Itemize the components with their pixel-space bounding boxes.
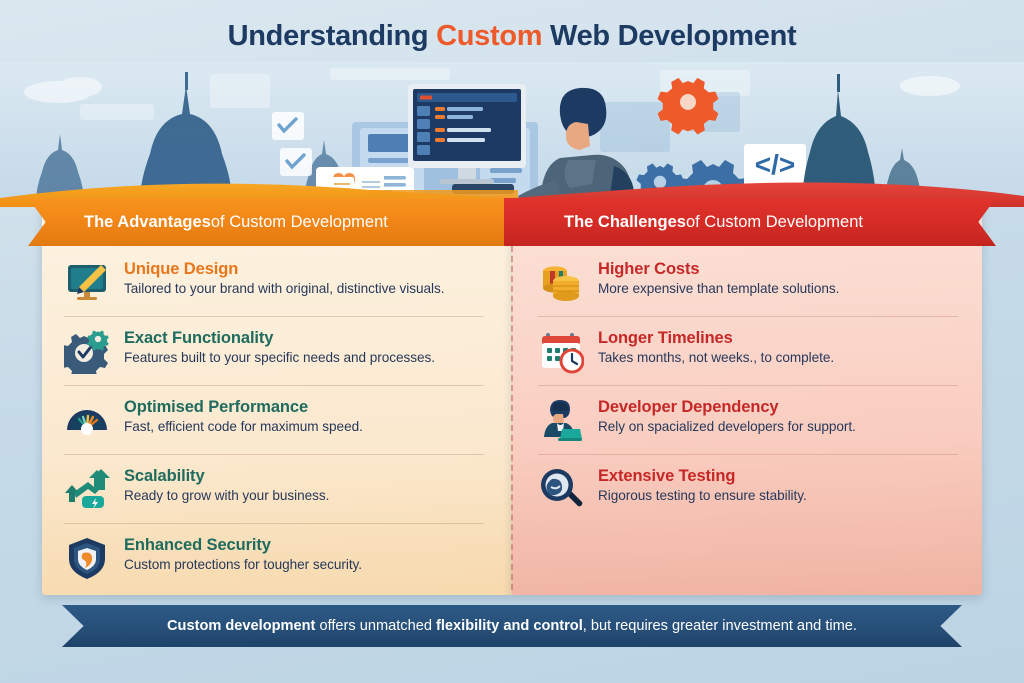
list-item-desc: Custom protections for tougher security. xyxy=(124,557,362,574)
shield-lock-icon xyxy=(64,535,110,581)
list-item-desc: Ready to grow with your business. xyxy=(124,488,329,505)
list-item-desc: Takes months, not weeks., to complete. xyxy=(598,350,834,367)
list-item: Unique Design Tailored to your brand wit… xyxy=(64,248,484,316)
challenges-ribbon-bold: The Challenges xyxy=(564,213,686,232)
list-item-desc: Fast, efficient code for maximum speed. xyxy=(124,419,363,436)
list-item-text: Unique Design Tailored to your brand wit… xyxy=(124,258,444,298)
list-item: Optimised Performance Fast, efficient co… xyxy=(64,385,484,454)
footer-plain-2: , but requires greater investment and ti… xyxy=(583,618,857,634)
list-item-text: Enhanced Security Custom protections for… xyxy=(124,534,362,574)
growth-arrow-icon xyxy=(64,466,110,512)
footer-text: Custom development offers unmatched flex… xyxy=(167,618,857,634)
list-item-heading: Developer Dependency xyxy=(598,398,856,416)
list-item: Developer Dependency Rely on spacialized… xyxy=(538,385,958,454)
list-item-heading: Optimised Performance xyxy=(124,398,363,416)
gear-check-icon xyxy=(64,328,110,374)
coin-stack-icon xyxy=(538,259,584,305)
list-item-desc: Rigorous testing to ensure stability. xyxy=(598,488,807,505)
list-item-heading: Longer Timelines xyxy=(598,329,834,347)
list-item-heading: Higher Costs xyxy=(598,260,839,278)
page-title-accent: Custom xyxy=(436,20,542,52)
challenges-list: Higher Costs More expensive than templat… xyxy=(538,248,958,523)
advantages-ribbon: The Advantages of Custom Development xyxy=(28,198,520,246)
list-item: Enhanced Security Custom protections for… xyxy=(64,523,484,592)
calendar-clock-icon xyxy=(538,328,584,374)
list-item-text: Exact Functionality Features built to yo… xyxy=(124,327,435,367)
footer-bold-2: flexibility and control xyxy=(436,618,583,634)
footer-plain-1: offers unmatched xyxy=(315,618,436,634)
footer-bold-1: Custom development xyxy=(167,618,315,634)
list-item: Higher Costs More expensive than templat… xyxy=(538,248,958,316)
list-item: Extensive Testing Rigorous testing to en… xyxy=(538,454,958,523)
list-item-text: Higher Costs More expensive than templat… xyxy=(598,258,839,298)
list-item: Longer Timelines Takes months, not weeks… xyxy=(538,316,958,385)
list-item-desc: Features built to your specific needs an… xyxy=(124,350,435,367)
page-title-part1: Understanding xyxy=(228,20,436,52)
list-item-heading: Exact Functionality xyxy=(124,329,435,347)
advantages-list: Unique Design Tailored to your brand wit… xyxy=(64,248,484,592)
list-item-heading: Extensive Testing xyxy=(598,467,807,485)
list-item-text: Scalability Ready to grow with your busi… xyxy=(124,465,329,505)
list-item-heading: Enhanced Security xyxy=(124,536,362,554)
challenges-ribbon: The Challenges of Custom Development xyxy=(504,198,996,246)
magnifying-glass-bug-icon xyxy=(538,466,584,512)
panel-divider xyxy=(511,246,513,590)
monitor-pencil-icon xyxy=(64,259,110,305)
list-item: Exact Functionality Features built to yo… xyxy=(64,316,484,385)
list-item: Scalability Ready to grow with your busi… xyxy=(64,454,484,523)
list-item-text: Developer Dependency Rely on spacialized… xyxy=(598,396,856,436)
page-title-part2: Web Development xyxy=(542,20,796,52)
list-item-desc: Rely on spacialized developers for suppo… xyxy=(598,419,856,436)
list-item-text: Optimised Performance Fast, efficient co… xyxy=(124,396,363,436)
advantages-ribbon-light: of Custom Development xyxy=(211,213,388,232)
list-item-text: Extensive Testing Rigorous testing to en… xyxy=(598,465,807,505)
list-item-text: Longer Timelines Takes months, not weeks… xyxy=(598,327,834,367)
developer-laptop-icon xyxy=(538,397,584,443)
hero-artwork: </> xyxy=(0,62,1024,207)
list-item-heading: Unique Design xyxy=(124,260,444,278)
challenges-ribbon-light: of Custom Development xyxy=(686,213,863,232)
advantages-ribbon-bold: The Advantages xyxy=(84,213,211,232)
list-item-desc: More expensive than template solutions. xyxy=(598,281,839,298)
list-item-desc: Tailored to your brand with original, di… xyxy=(124,281,444,298)
speedometer-gauge-icon xyxy=(64,397,110,443)
list-item-heading: Scalability xyxy=(124,467,329,485)
hero-illustration: </> xyxy=(0,62,1024,207)
code-tag-label: </> xyxy=(755,149,795,180)
page-title: Understanding Custom Web Development xyxy=(0,20,1024,53)
code-tag-card-icon: </> xyxy=(744,144,806,186)
footer-banner: Custom development offers unmatched flex… xyxy=(62,605,962,647)
